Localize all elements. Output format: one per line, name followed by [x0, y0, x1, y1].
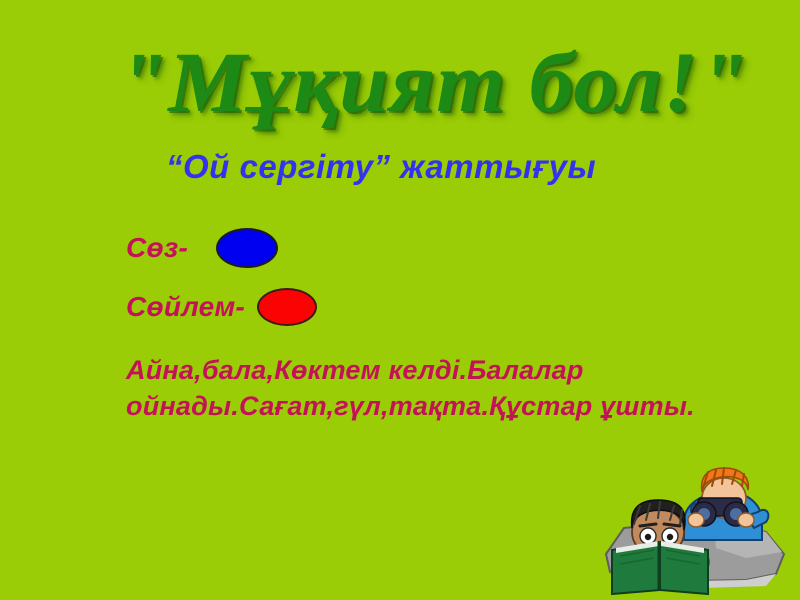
label-soz: Сөз- [126, 232, 188, 264]
page-title: "Мұқият бол!" [118, 22, 736, 142]
blue-ellipse-icon [216, 228, 278, 268]
slide-canvas: "Мұқият бол!" “Ой сергіту” жаттығуы Сөз-… [0, 0, 800, 600]
label-soylem: Сөйлем- [126, 291, 245, 323]
body-paragraph: Айна,бала,Көктем келді.Балалар ойнады.Са… [126, 352, 756, 424]
subtitle: “Ой сергіту” жаттығуы [166, 148, 596, 186]
row-soz: Сөз- [126, 228, 278, 268]
clipart-children-reading-icon [596, 462, 796, 597]
red-ellipse-icon [257, 288, 317, 326]
row-soylem: Сөйлем- [126, 288, 317, 326]
